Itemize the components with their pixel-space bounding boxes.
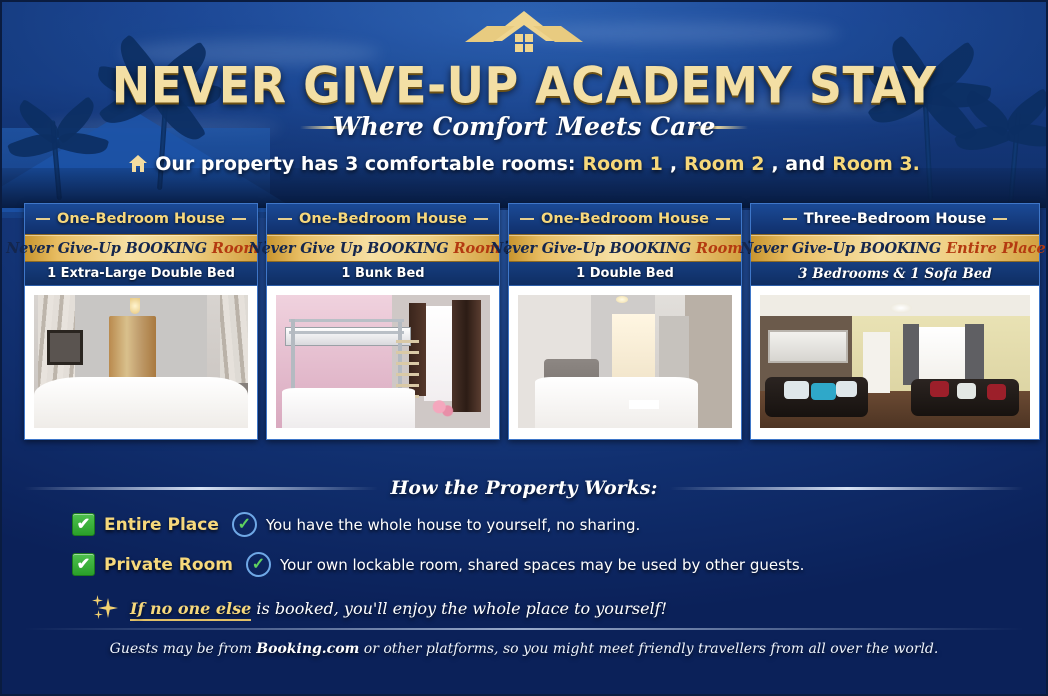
booking-brand-label: Never Give-Up BOOKING [6, 240, 207, 257]
page-subtitle: Where Comfort Meets Care [0, 112, 1048, 141]
rooms-sep-2: , and [771, 153, 825, 175]
footer-prefix: Guests may be from [110, 641, 257, 657]
works-bullet-entire-place: ✔ Entire Place ✓ You have the whole hous… [72, 512, 640, 537]
booking-bar[interactable]: Never Give-Up BOOKING Room 3 [509, 234, 741, 262]
footer-suffix: or other platforms, so you might meet fr… [359, 641, 938, 657]
dash-left-icon [783, 218, 797, 220]
room-2-chip: Room 2 [684, 153, 764, 175]
footer-note: Guests may be from Booking.com or other … [0, 641, 1048, 657]
circle-check-icon: ✓ [232, 512, 257, 537]
bullet-description: Your own lockable room, shared spaces ma… [280, 556, 804, 574]
bed-info-row: 1 Extra-Large Double Bed [25, 262, 257, 286]
photo-frame [751, 286, 1039, 439]
works-bullet-private-room: ✔ Private Room ✓ Your own lockable room,… [72, 552, 804, 577]
room-3-photo [518, 295, 732, 428]
check-box-icon: ✔ [72, 553, 95, 576]
divider-left [24, 487, 378, 490]
rooms-summary-line: Our property has 3 comfortable rooms: Ro… [0, 153, 1048, 175]
sparkle-note-bold: If no one else [130, 599, 251, 621]
sparkle-note-rest: is booked, you'll enjoy the whole place … [251, 599, 667, 618]
card-house-type-header: One-Bedroom House [25, 204, 257, 234]
works-heading-row: How the Property Works: [24, 475, 1024, 501]
circle-check-icon: ✓ [246, 552, 271, 577]
house-roof-logo-icon [449, 8, 599, 60]
home-icon [128, 154, 148, 174]
room-1-chip: Room 1 [582, 153, 662, 175]
bed-info-row: 3 Bedrooms & 1 Sofa Bed [751, 262, 1039, 286]
dash-right-icon [716, 218, 730, 220]
divider-right [670, 487, 1024, 490]
bed-info-row: 1 Double Bed [509, 262, 741, 286]
rooms-summary-prefix: Our property has 3 comfortable rooms: [155, 153, 575, 175]
photo-frame [509, 286, 741, 439]
entire-place-photo [760, 295, 1030, 428]
booking-bar[interactable]: Never Give-Up BOOKING Entire Place [751, 234, 1039, 262]
rooms-sep-1: , [670, 153, 677, 175]
card-house-type-header: One-Bedroom House [509, 204, 741, 234]
bullet-label: Private Room [104, 555, 233, 575]
house-roof-logo [0, 8, 1048, 60]
house-type-label: Three-Bedroom House [804, 211, 986, 227]
booking-bar[interactable]: Never Give-Up BOOKING Room 1 [25, 234, 257, 262]
dash-right-icon [474, 218, 488, 220]
room-card[interactable]: One-Bedroom House Never Give-Up BOOKING … [508, 203, 742, 440]
booking-room-label: Entire Place [946, 240, 1046, 257]
dash-right-icon [232, 218, 246, 220]
works-heading: How the Property Works: [390, 477, 657, 499]
room-card[interactable]: One-Bedroom House Never Give Up BOOKING … [266, 203, 500, 440]
room-1-photo [34, 295, 248, 428]
room-card[interactable]: One-Bedroom House Never Give-Up BOOKING … [24, 203, 258, 440]
house-type-label: One-Bedroom House [57, 211, 225, 227]
booking-brand-label: Never Give Up BOOKING [249, 240, 449, 257]
photo-frame [25, 286, 257, 439]
room-2-photo [276, 295, 490, 428]
sparkle-note-row: If no one else is booked, you'll enjoy t… [92, 595, 667, 621]
booking-brand-label: Never Give-Up BOOKING [490, 240, 691, 257]
bullet-label: Entire Place [104, 515, 219, 535]
sparkle-note: If no one else is booked, you'll enjoy t… [130, 599, 667, 618]
footer-divider [24, 628, 1024, 630]
booking-room-label: Room [696, 240, 743, 257]
house-type-label: One-Bedroom House [299, 211, 467, 227]
card-house-type-header: One-Bedroom House [267, 204, 499, 234]
poster-stage: NEVER GIVE-UP ACADEMY STAY Where Comfort… [0, 0, 1048, 696]
page-title: NEVER GIVE-UP ACADEMY STAY [0, 56, 1048, 114]
room-3-chip: Room 3. [832, 153, 920, 175]
card-house-type-header: Three-Bedroom House [751, 204, 1039, 234]
dash-right-icon [993, 218, 1007, 220]
booking-bar[interactable]: Never Give Up BOOKING Room 2 [267, 234, 499, 262]
room-card-list: One-Bedroom House Never Give-Up BOOKING … [24, 203, 1040, 440]
photo-frame [267, 286, 499, 439]
bullet-description: You have the whole house to yourself, no… [266, 516, 640, 534]
house-type-label: One-Bedroom House [541, 211, 709, 227]
check-box-icon: ✔ [72, 513, 95, 536]
dash-left-icon [278, 218, 292, 220]
sparkle-icon [92, 595, 122, 621]
footer-brand: Booking.com [256, 641, 359, 657]
dash-left-icon [520, 218, 534, 220]
bed-info-row: 1 Bunk Bed [267, 262, 499, 286]
dash-left-icon [36, 218, 50, 220]
booking-brand-label: Never Give-Up BOOKING [740, 240, 941, 257]
room-card[interactable]: Three-Bedroom House Never Give-Up BOOKIN… [750, 203, 1040, 440]
